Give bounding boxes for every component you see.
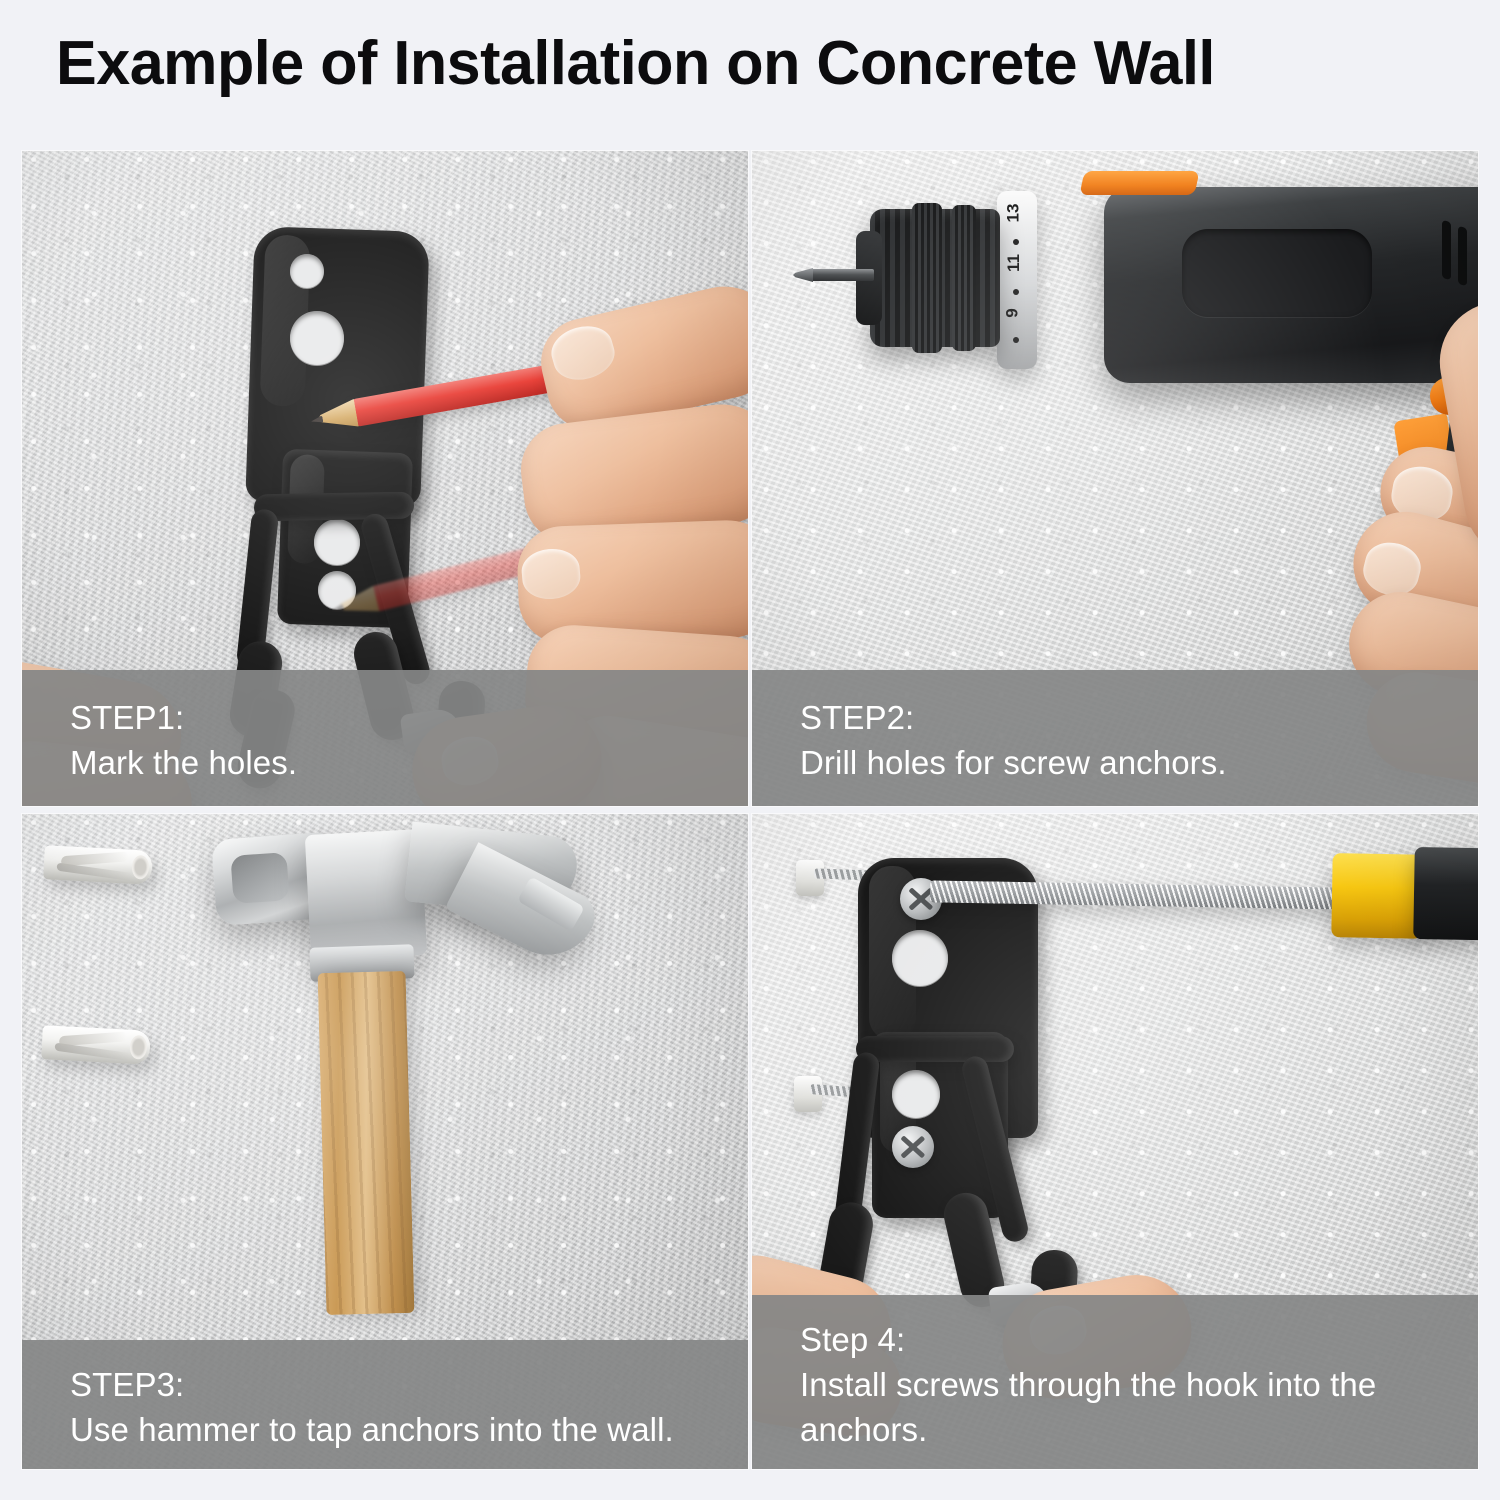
step-2-label: STEP2: [800, 696, 1478, 741]
page-title: Example of Installation on Concrete Wall [56, 33, 1435, 95]
step-4-label: Step 4: [800, 1318, 1478, 1363]
step-1-caption: STEP1: Mark the holes. [22, 670, 748, 806]
screw-head-lower [892, 1126, 934, 1168]
step-3-text: Use hammer to tap anchors into the wall. [70, 1408, 680, 1453]
step-panel-3: STEP3: Use hammer to tap anchors into th… [22, 814, 748, 1469]
step-2-caption: STEP2: Drill holes for screw anchors. [752, 670, 1478, 806]
wall-anchor-top [43, 845, 153, 885]
drill-top-accent [1079, 171, 1199, 195]
step-3-caption: STEP3: Use hammer to tap anchors into th… [22, 1340, 748, 1469]
step-4-caption: Step 4: Install screws through the hook … [752, 1295, 1478, 1469]
step-panel-4: Step 4: Install screws through the hook … [752, 814, 1478, 1469]
step-1-text: Mark the holes. [70, 741, 680, 786]
steps-grid: STEP1: Mark the holes. 13 11 9 [22, 151, 1478, 1469]
wall-anchor-bottom [41, 1025, 151, 1065]
step-2-text: Drill holes for screw anchors. [800, 741, 1410, 786]
drill-bit [810, 269, 874, 281]
step-panel-2: 13 11 9 [752, 151, 1478, 806]
step-4-text: Install screws through the hook into the… [800, 1363, 1410, 1453]
drill-clutch-ring: 13 11 9 [997, 191, 1037, 369]
step-panel-1: STEP1: Mark the holes. [22, 151, 748, 806]
screwdriver-handle-black [1413, 847, 1478, 941]
step-1-label: STEP1: [70, 696, 748, 741]
step-3-label: STEP3: [70, 1363, 748, 1408]
